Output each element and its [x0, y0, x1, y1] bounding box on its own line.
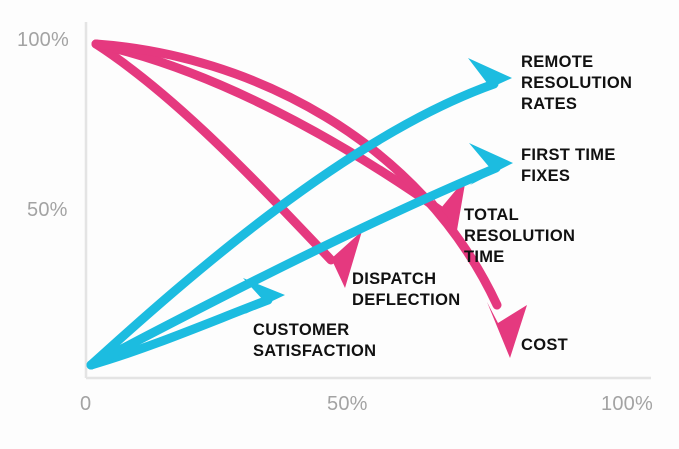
x-axis-tick-100: 100%: [601, 393, 653, 416]
series-label-dispatch-deflection: DISPATCH DEFLECTION: [352, 269, 460, 311]
y-axis-tick-50: 50%: [27, 199, 68, 222]
series-label-customer-satisfaction: CUSTOMER SATISFACTION: [253, 320, 376, 362]
series-label-first-time-fixes: FIRST TIME FIXES: [521, 145, 616, 187]
chart-container: 100% 50% 0 50% 100% REMOTE RESOLUTION RA…: [0, 0, 679, 449]
x-axis-tick-0: 0: [80, 393, 91, 416]
series-label-remote-resolution-rates: REMOTE RESOLUTION RATES: [521, 52, 632, 115]
series-label-total-resolution-time: TOTAL RESOLUTION TIME: [464, 205, 575, 268]
y-axis-tick-100: 100%: [17, 29, 69, 52]
x-axis-tick-50: 50%: [327, 393, 368, 416]
series-label-cost: COST: [521, 335, 568, 356]
